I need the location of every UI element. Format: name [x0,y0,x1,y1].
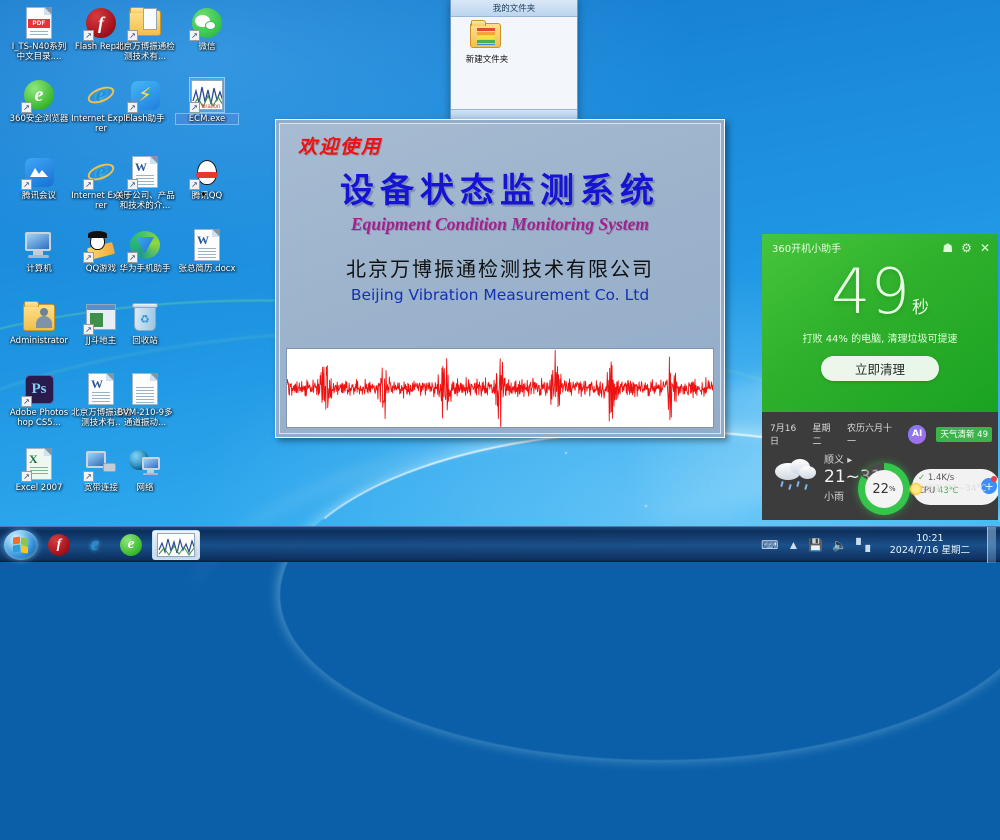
desktop-icon-label: I_TS-N40系列中文目录.... [8,42,70,62]
desktop-icon-13[interactable]: 计算机 [8,228,70,274]
desktop-icon-label: 北京万博振通检测技术有... [114,42,176,62]
desktop-icon-16[interactable]: W张总简历.docx [176,228,238,274]
desktop-icon-25[interactable]: 网络 [114,447,176,493]
app-title-chinese: 设备状态监测系统 [280,163,720,212]
desktop-icon-label: 微信 [176,42,238,52]
desktop-icon-22[interactable]: BVM-210-9多通道振动... [114,372,176,428]
taskbar-clock[interactable]: 10:21 2024/7/16 星期二 [884,533,976,557]
tomorrow-forecast: 后天 21~34℃ [910,482,987,495]
show-desktop-button[interactable] [987,527,996,563]
desktop-icon-19[interactable]: ♻回收站 [114,300,176,346]
desktop-icon-label: 腾讯会议 [8,191,70,201]
shortcut-arrow-icon [83,252,94,263]
browser360-icon: e [22,78,56,112]
recyclebin-icon: ♻ [128,300,162,334]
folder-window[interactable]: 我的文件夹 新建文件夹 [450,0,578,120]
folder-window-item[interactable]: 新建文件夹 [457,23,517,65]
desktop-icon-label: 腾讯QQ [176,191,238,201]
system-tray[interactable]: ⌨ ▲ 💾 🔈 ▘▖ 10:21 2024/7/16 星期二 [761,527,1000,563]
shortcut-arrow-icon [21,396,32,407]
shortcut-arrow-icon [127,252,138,263]
clock-date: 2024/7/16 星期二 [890,545,970,557]
computer-icon [22,228,56,262]
svg-text:bration: bration [202,104,220,110]
desktop-icon-5[interactable]: e360安全浏览器 [8,78,70,124]
jj-icon [84,300,118,334]
desktop-icon-15[interactable]: 华为手机助手 [114,228,176,274]
desktop-icon-label: 计算机 [8,264,70,274]
close-icon[interactable]: ✕ [980,242,990,254]
word-icon: W [190,228,224,262]
desktop-icon-23[interactable]: XExcel 2007 [8,447,70,493]
boot-time-subtitle: 打败 44% 的电脑, 清理垃圾可提速 [762,330,998,345]
company-name-english: Beijing Vibration Measurement Co. Ltd [280,286,720,304]
desktop-icon-label: Flash助手 [114,114,176,124]
shortcut-arrow-icon [21,471,32,482]
cleanliness-value: 22% [865,470,903,508]
word-icon: W [84,372,118,406]
desktop-icon-label: 华为手机助手 [114,264,176,274]
desktop-icon-label: ECM.exe [176,114,238,124]
tencentmeeting-icon [22,155,56,189]
boot-time-value: 49秒 [762,261,998,323]
word-icon: W [128,155,162,189]
excel-icon: X [22,447,56,481]
shortcut-arrow-icon [189,102,200,113]
desktop-icon-label: 回收站 [114,336,176,346]
input-method-icon[interactable]: ⌨ [761,539,778,551]
shortcut-arrow-icon [83,324,94,335]
flashhelper-icon: ⚡ [128,78,162,112]
desktop-icon-label: 360安全浏览器 [8,114,70,124]
folder-icon [470,23,504,53]
desktop-icon-label: 网络 [114,483,176,493]
start-button[interactable] [4,530,38,560]
folder-window-title: 我的文件夹 [451,0,577,17]
flash-icon: f [84,6,118,40]
ecm-waveform-icon [158,534,195,557]
desktop-icon-8[interactable]: brationECM.exe [176,78,238,124]
desktop-icon-label: 关于公司、产品和技术的介... [114,191,176,211]
vibration-waveform-chart [286,348,714,428]
360-boot-assistant-widget[interactable]: 360开机小助手 ☗ ⚙ ✕ 49秒 打败 44% 的电脑, 清理垃圾可提速 立… [762,234,998,412]
doc-icon [128,372,162,406]
chevron-right-icon: ▸ [847,455,852,466]
shirt-icon[interactable]: ☗ [942,242,953,254]
weather-widget[interactable]: 7月16日 星期二 农历六月十一 AI 天气清新 49 顺义 ▸ 21~31 小… [762,412,998,520]
weather-location[interactable]: 顺义 ▸ [824,451,882,466]
desktop-icon-17[interactable]: Administrator [8,300,70,346]
clock-time: 10:21 [890,533,970,545]
folder-icon [128,6,162,40]
desktop-icon-label: Administrator [8,336,70,346]
desktop-icon-label: BVM-210-9多通道振动... [114,408,176,428]
folder-window-item-label: 新建文件夹 [466,55,509,65]
taskbar-internet-explorer-icon[interactable]: e [80,530,110,560]
show-hidden-icons-icon[interactable]: ▲ [788,539,800,551]
sun-icon [910,483,922,495]
air-quality-badge: 天气清新 49 [936,427,992,442]
shortcut-arrow-icon [21,102,32,113]
taskbar-flash-icon[interactable]: f [44,530,74,560]
windows-logo-icon [13,537,29,552]
weather-lunar-date: 农历六月十一 [847,421,900,447]
shortcut-arrow-icon [21,179,32,190]
ecm-icon: bration [190,78,224,112]
desktop-icon-label: 张总简历.docx [176,264,238,274]
desktop-icon-label: Adobe Photoshop CS5... [8,408,70,428]
huawei-icon [128,228,162,262]
notification-dot [991,476,997,482]
pdf-icon: PDF [22,6,56,40]
rain-cloud-icon [772,455,818,493]
shortcut-arrow-icon [189,30,200,41]
weather-weekday: 星期二 [812,421,838,447]
app-title-english: Equipment Condition Monitoring System [280,214,720,235]
photoshop-icon: Ps [22,372,56,406]
boot-time-unit: 秒 [912,298,929,318]
welcome-text: 欢迎使用 [298,132,720,159]
folder-window-statusbar [451,109,577,119]
ai-badge[interactable]: AI [908,425,927,444]
widget-title: 360开机小助手 [772,240,934,255]
ie-icon: e [84,155,118,189]
qq-icon [190,155,224,189]
desktop-icon-20[interactable]: PsAdobe Photoshop CS5... [8,372,70,428]
qqgame-icon [84,228,118,262]
shortcut-arrow-icon [127,102,138,113]
taskbar-window-ecm[interactable] [152,530,200,560]
taskbar-360-browser-icon[interactable]: e [116,530,146,560]
waveform-svg [287,349,713,427]
company-name-chinese: 北京万博振通检测技术有限公司 [280,253,720,282]
weather-date: 7月16日 [770,421,804,447]
cleanliness-ring[interactable]: 22% [858,463,910,515]
gear-icon[interactable]: ⚙ [961,242,972,254]
network-icon[interactable]: ▘▖ [856,539,874,551]
shortcut-arrow-icon [127,30,138,41]
splash-window[interactable]: 欢迎使用 设备状态监测系统 Equipment Condition Monito… [275,119,725,438]
adminfolder-icon [22,300,56,334]
desktop-icon-11[interactable]: W关于公司、产品和技术的介... [114,155,176,211]
desktop-icon-12[interactable]: 腾讯QQ [176,155,238,201]
broadband-icon [84,447,118,481]
taskbar[interactable]: f e e ⌨ ▲ 💾 🔈 ▘▖ 10:21 2024/7/16 星期二 [0,526,1000,562]
shortcut-arrow-icon [83,30,94,41]
wechat-icon [190,6,224,40]
ie-icon: e [84,78,118,112]
clean-now-button[interactable]: 立即清理 [821,356,939,381]
desktop-icon-7[interactable]: ⚡Flash助手 [114,78,176,124]
desktop-icon-4[interactable]: 微信 [176,6,238,52]
desktop-icon-1[interactable]: PDFI_TS-N40系列中文目录.... [8,6,70,62]
shortcut-arrow-icon [83,471,94,482]
desktop-icon-label: Excel 2007 [8,483,70,493]
desktop-icon-3[interactable]: 北京万博振通检测技术有... [114,6,176,62]
shortcut-arrow-icon [189,179,200,190]
volume-icon[interactable]: 🔈 [832,539,847,551]
shortcut-arrow-icon [127,179,138,190]
desktop-icon-9[interactable]: 腾讯会议 [8,155,70,201]
network-icon [128,447,162,481]
shortcut-arrow-icon [83,179,94,190]
safely-remove-hardware-icon[interactable]: 💾 [808,539,823,551]
